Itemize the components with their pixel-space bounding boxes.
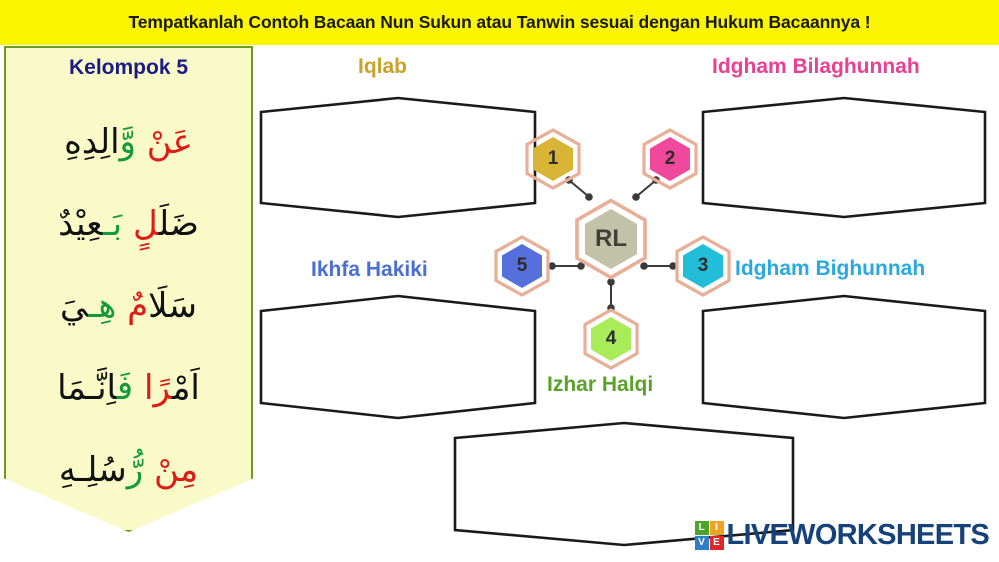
examples-panel-content: Kelompok 5 عَنْ وَّالِدِهِ ضَلَلٍ بَـعِي… xyxy=(4,46,253,532)
arabic-example-5-part-1: مِنْ xyxy=(154,450,198,490)
logo-squares: L I V E xyxy=(695,521,724,550)
header-band: Tempatkanlah Contoh Bacaan Nun Sukun ata… xyxy=(0,0,999,45)
liveworksheets-logo: L I V E LIVEWORKSHEETS xyxy=(695,521,990,550)
logo-wordmark: LIVEWORKSHEETS xyxy=(727,521,990,550)
hex-node-1[interactable]: 1 xyxy=(524,128,582,190)
arabic-example-2-part-1: ضَلَ xyxy=(159,204,199,244)
page-title: Tempatkanlah Contoh Bacaan Nun Sukun ata… xyxy=(128,12,870,33)
arabic-example-2-space xyxy=(122,204,133,244)
answer-box-ikhfa-hakiki[interactable] xyxy=(258,293,538,421)
arabic-example-3: سَلَامٌ هِـيَ xyxy=(4,288,253,325)
label-ikhfa-hakiki: Ikhfa Hakiki xyxy=(311,258,428,282)
arabic-example-3-part-1: سَلَا xyxy=(148,286,197,326)
arabic-example-1-space xyxy=(136,122,147,162)
arabic-example-4: اَمْرًا فَاِنَّـمَا xyxy=(4,370,253,407)
group-title: Kelompok 5 xyxy=(4,56,253,80)
label-izhar-halqi: Izhar Halqi xyxy=(547,373,653,397)
arabic-example-4-part-4: فَ xyxy=(117,368,133,408)
arabic-example-4-part-2: رًا xyxy=(144,368,172,408)
arabic-example-2-part-4: بَـ xyxy=(103,204,122,244)
arabic-example-1-part-4: الِدِهِ xyxy=(64,122,119,162)
logo-square-v: V xyxy=(695,536,709,550)
arabic-example-5: مِنْ رُّسُلِـهِ xyxy=(4,452,253,489)
label-iqlab: Iqlab xyxy=(358,55,407,79)
logo-square-e: E xyxy=(710,536,724,550)
arabic-example-5-part-3: رُّ xyxy=(127,450,143,490)
arabic-example-4-part-1: اَمْ xyxy=(172,368,200,408)
label-idgham-bighunnah: Idgham Bighunnah xyxy=(735,257,925,281)
arabic-example-3-space xyxy=(116,286,127,326)
arabic-example-4-part-5: اِنَّـمَا xyxy=(57,368,117,408)
arabic-example-1-part-1: عَنْ xyxy=(147,122,193,162)
answer-box-iqlab[interactable] xyxy=(258,95,538,220)
label-idgham-bilaghunnah: Idgham Bilaghunnah xyxy=(712,55,920,79)
hex-node-2[interactable]: 2 xyxy=(641,128,699,190)
worksheet-page: Tempatkanlah Contoh Bacaan Nun Sukun ata… xyxy=(0,0,999,562)
arabic-example-4-space xyxy=(133,368,144,408)
answer-box-idgham-bilaghunnah[interactable] xyxy=(700,95,988,220)
hex-node-3[interactable]: 3 xyxy=(674,235,732,297)
arabic-example-2-part-2: لٍ xyxy=(133,204,159,244)
arabic-example-5-space xyxy=(143,450,154,490)
arabic-example-1-part-3: وَّ xyxy=(120,122,136,162)
arabic-example-3-part-5: يَ xyxy=(60,286,88,326)
hex-node-center-rl[interactable]: RL xyxy=(573,198,649,280)
logo-square-l: L xyxy=(695,521,709,535)
arabic-example-3-part-4: هِـ xyxy=(88,286,116,326)
answer-box-idgham-bighunnah[interactable] xyxy=(700,293,988,421)
hex-node-5[interactable]: 5 xyxy=(493,235,551,297)
hex-node-4[interactable]: 4 xyxy=(582,308,640,370)
arabic-example-2: ضَلَلٍ بَـعِيْدٌ xyxy=(4,206,253,243)
arabic-example-5-part-4: سُلِـهِ xyxy=(59,450,127,490)
arabic-example-2-part-5: عِيْدٌ xyxy=(58,204,103,244)
arabic-example-1: عَنْ وَّالِدِهِ xyxy=(4,124,253,161)
arabic-example-3-part-2: مٌ xyxy=(127,286,148,326)
logo-square-i: I xyxy=(710,521,724,535)
